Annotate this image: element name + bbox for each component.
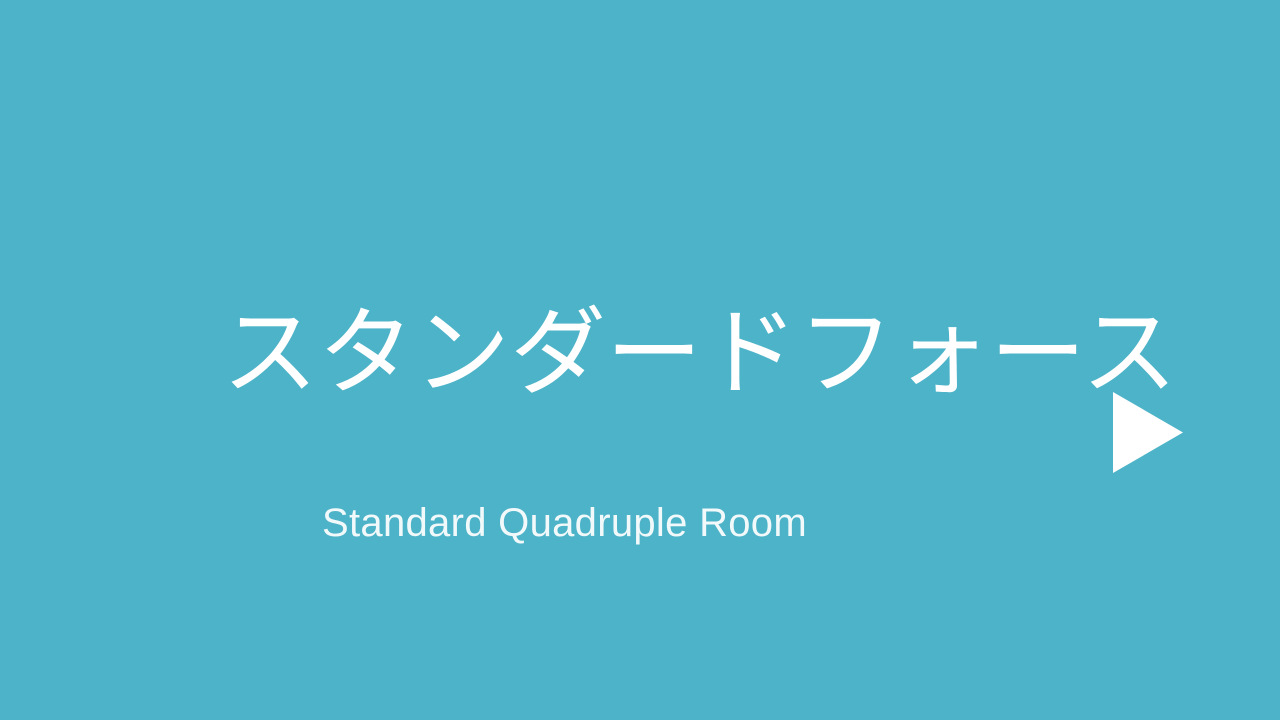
play-triangle-icon [1113,392,1183,473]
slide-canvas: スタンダードフォース Standard Quadruple Room [0,0,1280,720]
title-block: スタンダードフォース Standard Quadruple Room [0,0,1280,720]
page-title: スタンダードフォース [222,306,1082,402]
play-button[interactable] [1113,392,1183,473]
page-subtitle: Standard Quadruple Room [322,500,1022,546]
